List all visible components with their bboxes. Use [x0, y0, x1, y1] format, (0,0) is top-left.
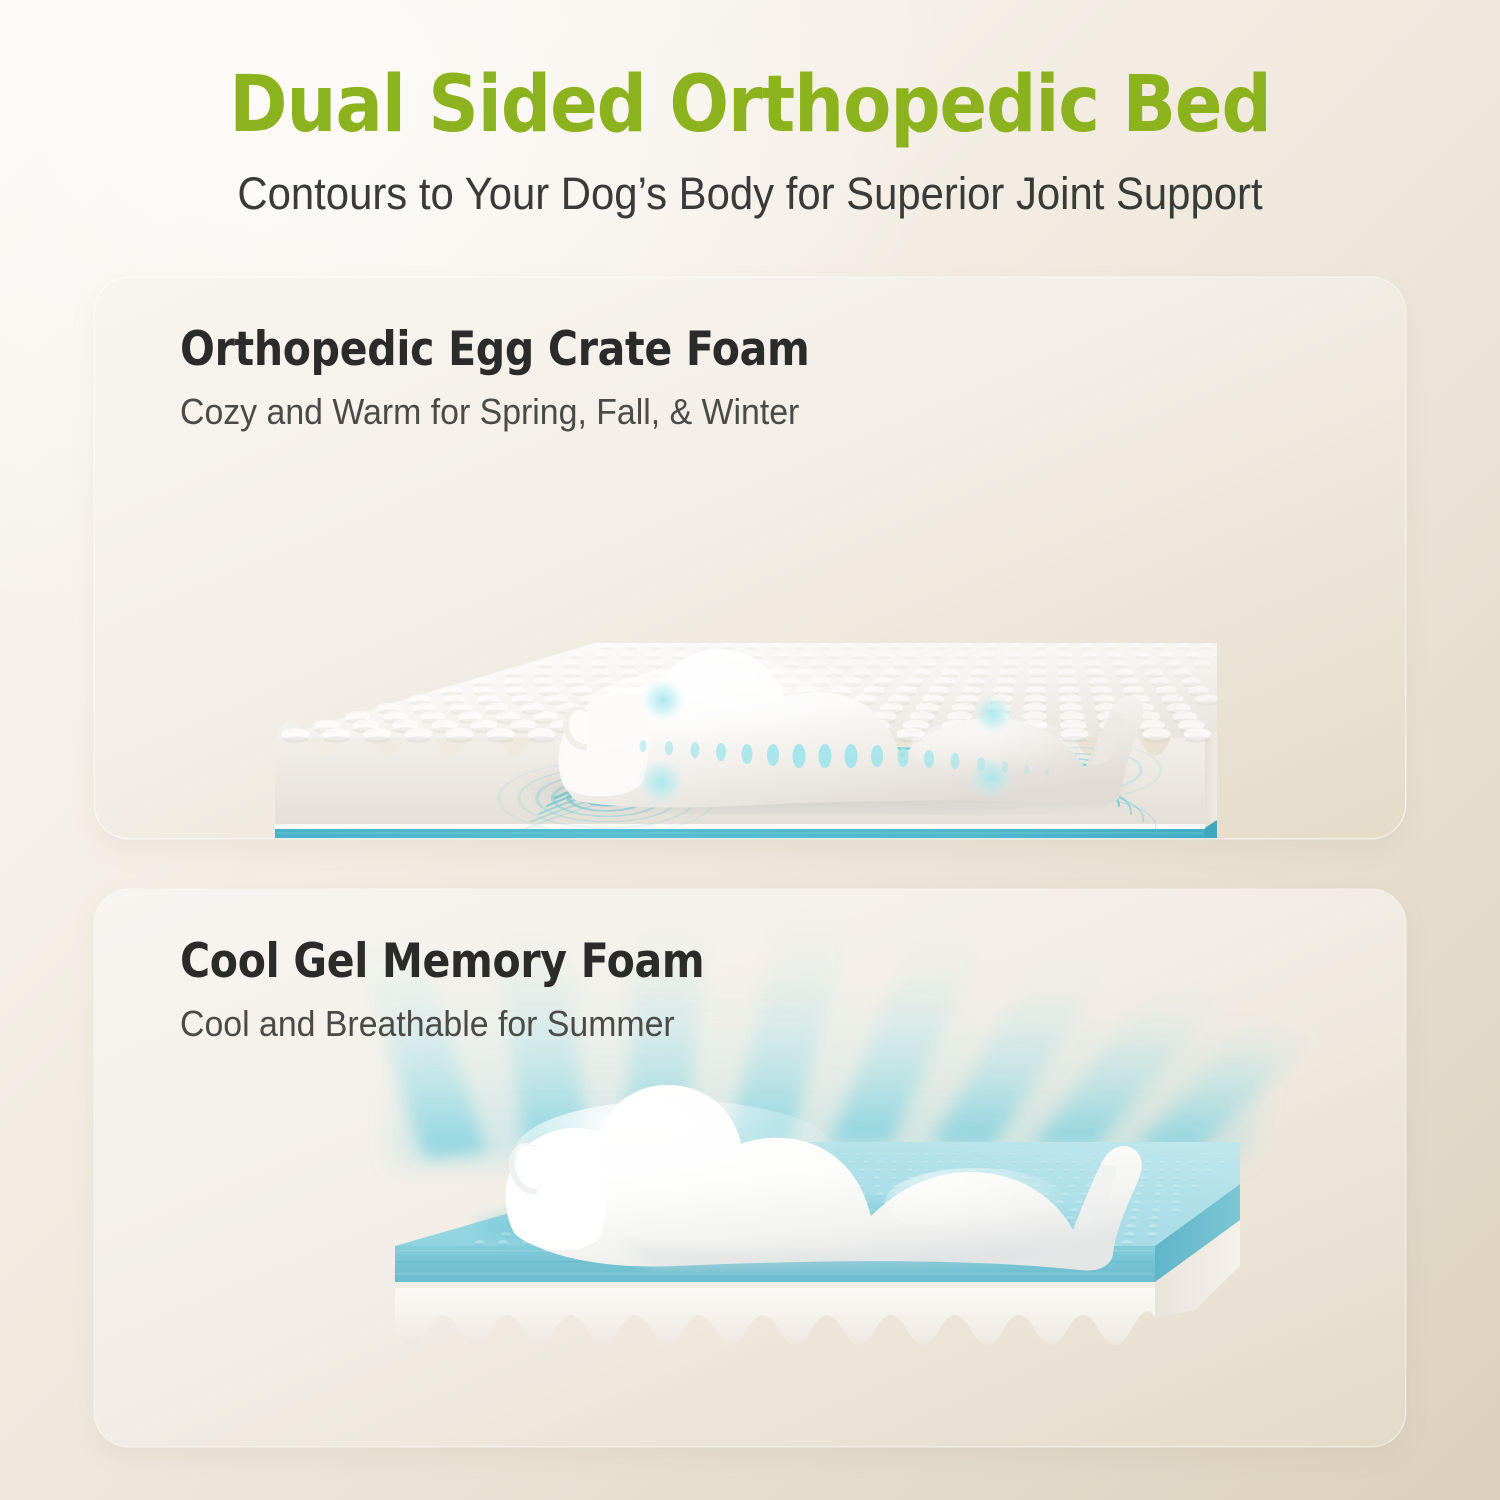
header: Dual Sided Orthopedic Bed Contours to Yo… [0, 0, 1500, 220]
card-cool-gel-memory-foam: Cool Gel Memory Foam Cool and Breathable… [95, 890, 1405, 1446]
page-subtitle: Contours to Your Dog’s Body for Superior… [53, 150, 1448, 220]
card-2-heading: Cool Gel Memory Foam [180, 934, 704, 989]
infographic-root: Dual Sided Orthopedic Bed Contours to Yo… [0, 0, 1500, 1500]
card-2-text-block: Cool Gel Memory Foam Cool and Breathable… [180, 934, 721, 1045]
page-title: Dual Sided Orthopedic Bed [0, 0, 1500, 150]
card-2-subheading: Cool and Breathable for Summer [180, 989, 688, 1045]
card-orthopedic-egg-crate-foam: Orthopedic Egg Crate Foam Cozy and Warm … [95, 278, 1405, 838]
card-1-subheading: Cozy and Warm for Spring, Fall, & Winter [180, 377, 799, 433]
card-1-text-block: Orthopedic Egg Crate Foam Cozy and Warm … [180, 322, 839, 433]
card-1-heading: Orthopedic Egg Crate Foam [180, 322, 819, 377]
